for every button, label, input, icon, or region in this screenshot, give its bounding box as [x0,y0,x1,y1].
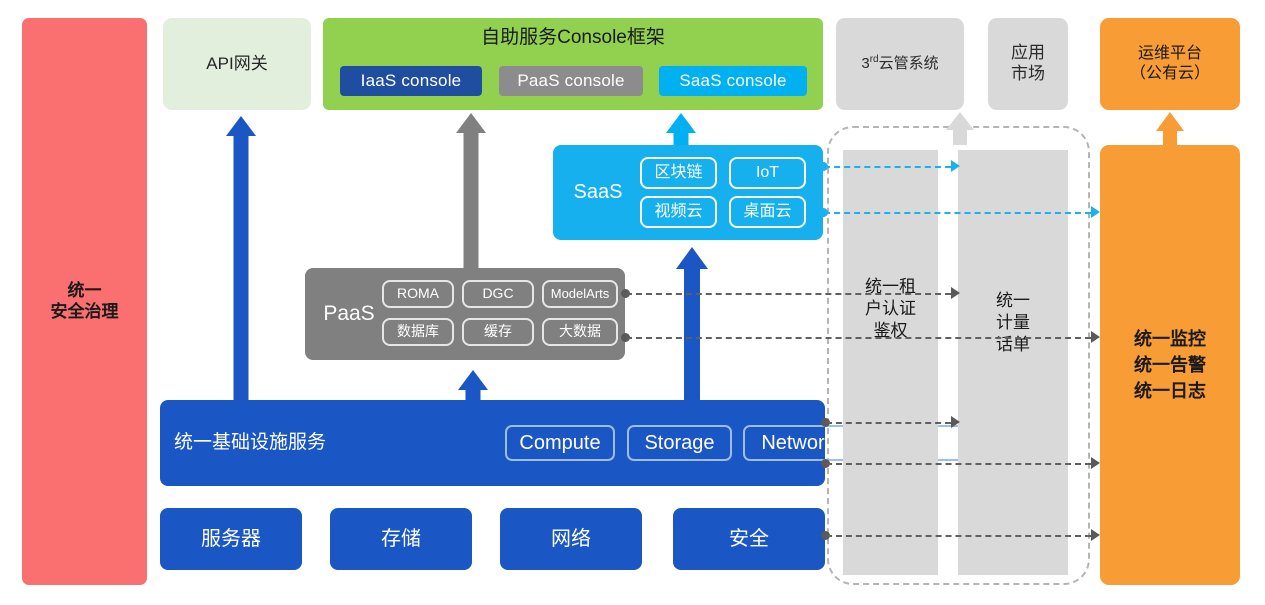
link-saas-to-ops [824,212,1091,214]
api-gateway-up-arrow [226,116,256,400]
link-arrowhead-paas-1 [951,287,960,299]
third-cloud-up-arrow [946,112,974,145]
ops-platform-up-arrow [1156,112,1184,145]
link-paas-to-tenant-auth [626,293,951,295]
link-arrowhead-saas-1 [951,160,960,172]
saas-console-up-arrow [666,113,696,145]
link-arrowhead-infra-2 [1091,457,1100,469]
link-arrowhead-saas-2 [1091,206,1100,218]
link-infra-to-tenant-auth [826,422,951,424]
link-infra-to-ops [826,463,1091,465]
link-arrowhead-hardware [1091,529,1100,541]
infra-to-paas-up-arrow [458,370,488,400]
link-paas-to-ops [626,337,1091,339]
link-arrowhead-infra-1 [951,416,960,428]
link-saas-to-tenant-auth [824,166,951,168]
link-hardware-to-ops [826,535,1091,537]
paas-console-up-arrow [456,113,486,268]
arrow-layer [0,0,1265,605]
architecture-diagram: 统一 安全治理 API网关 自助服务Console框架 IaaS console… [0,0,1265,605]
infra-to-saas-up-arrow [676,247,708,400]
link-arrowhead-paas-2 [1091,331,1100,343]
